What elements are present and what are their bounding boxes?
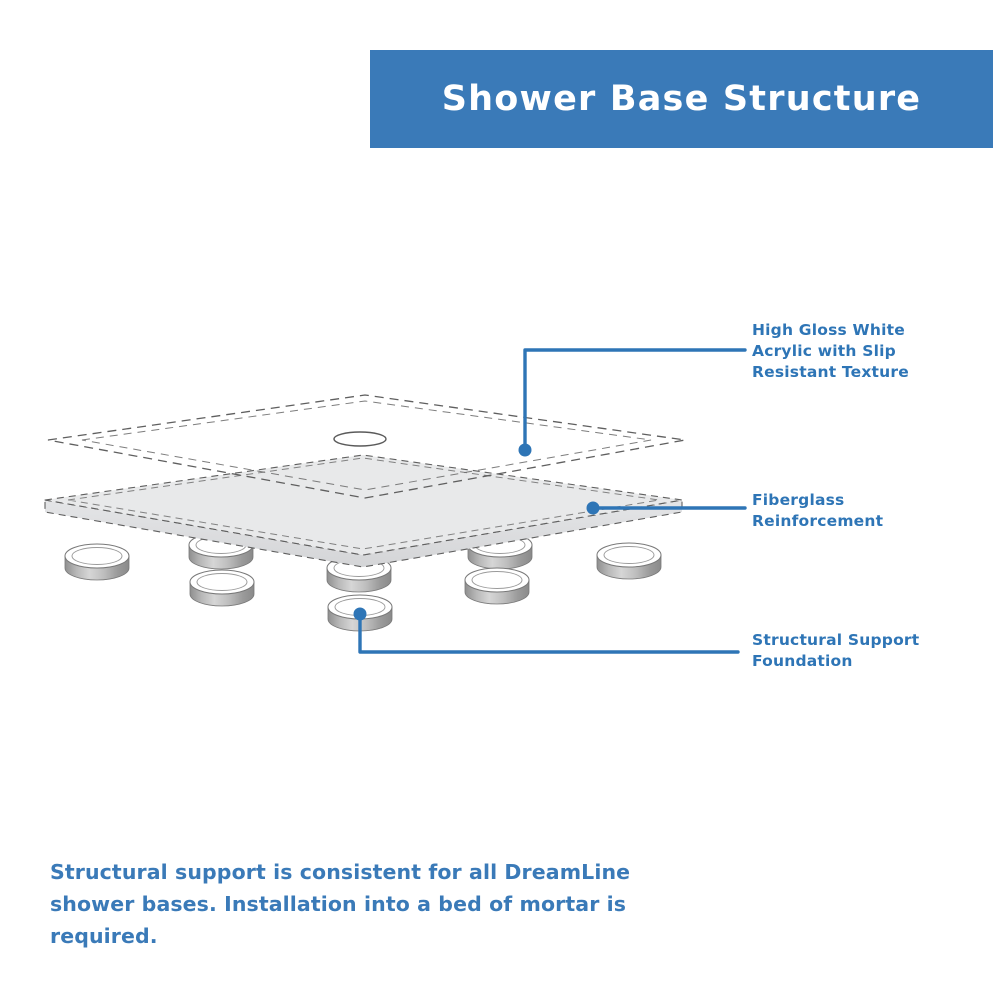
- support-ring: [468, 533, 532, 569]
- leader-line-fiberglass: [587, 502, 746, 515]
- leader-line-acrylic-surface: [519, 350, 746, 457]
- page-title: Shower Base Structure: [442, 79, 921, 119]
- callout-label-fiberglass: Fiberglass Reinforcement: [752, 490, 883, 532]
- callout-label-support-foundation: Structural Support Foundation: [752, 630, 919, 672]
- support-rings-front-group: [190, 568, 529, 631]
- support-ring: [465, 568, 529, 604]
- footer-caption: Structural support is consistent for all…: [50, 857, 690, 952]
- support-ring: [327, 556, 391, 592]
- support-ring: [328, 595, 392, 631]
- header-banner: Shower Base Structure: [370, 50, 993, 148]
- callout-label-acrylic-surface: High Gloss White Acrylic with Slip Resis…: [752, 320, 909, 383]
- support-rings-group: [65, 533, 661, 592]
- support-ring: [189, 533, 253, 569]
- support-ring: [190, 570, 254, 606]
- drain-ellipse: [334, 432, 386, 446]
- page-root: Shower Base Structure: [0, 0, 1000, 1000]
- support-ring: [65, 544, 129, 580]
- support-ring: [597, 543, 661, 579]
- leader-lines-group: [354, 350, 746, 652]
- fiberglass-reinforcement-slab: [45, 455, 682, 567]
- leader-line-support-foundation: [354, 608, 739, 653]
- acrylic-surface-plane: [48, 395, 685, 498]
